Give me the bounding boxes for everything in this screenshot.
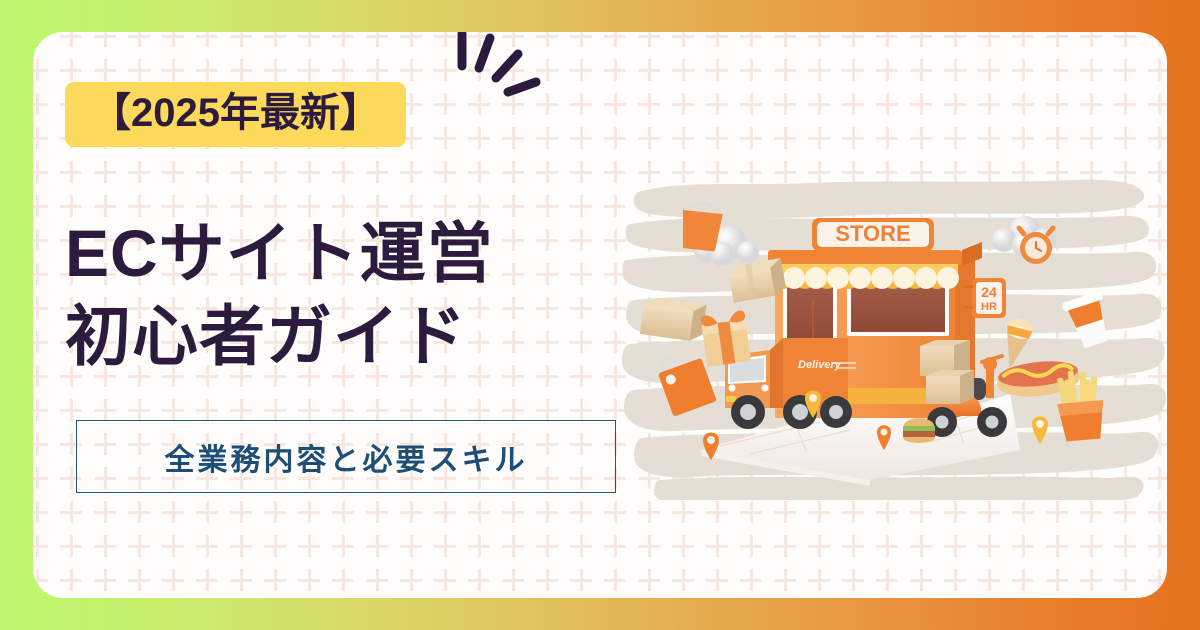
store-sign-label: STORE [835, 221, 910, 246]
truck-wheels [731, 395, 852, 429]
alarm-clock-icon [1019, 228, 1053, 264]
cardboard-box-stack [920, 340, 974, 404]
left-content-column: 【2025年最新】 ECサイト運営 初心者ガイド 全業務内容と必要スキル [33, 32, 633, 598]
page-title: ECサイト運営 初心者ガイド [65, 212, 494, 377]
sparkle-icon [448, 32, 558, 112]
subtitle-box: 全業務内容と必要スキル [76, 420, 616, 493]
badge-row: 【2025年最新】 [65, 82, 406, 147]
subtitle-text: 全業務内容と必要スキル [165, 435, 528, 479]
thumbnail-root: STORE 24 HR [0, 0, 1200, 630]
page-title-line2: 初心者ガイド [65, 295, 494, 378]
hours-sign-line2: HR [981, 301, 997, 313]
page-title-line1: ECサイト運営 [65, 216, 494, 290]
hours-sign-line1: 24 [981, 284, 997, 300]
truck-label: Delivery [798, 359, 842, 371]
content-card: STORE 24 HR [33, 32, 1167, 598]
ecommerce-delivery-illustration: STORE 24 HR [620, 150, 1167, 500]
new-year-badge: 【2025年最新】 [65, 82, 406, 147]
store-sign: STORE [812, 218, 934, 251]
awning [772, 264, 959, 289]
burger-icon [903, 419, 935, 444]
french-fries-icon [1054, 368, 1106, 442]
